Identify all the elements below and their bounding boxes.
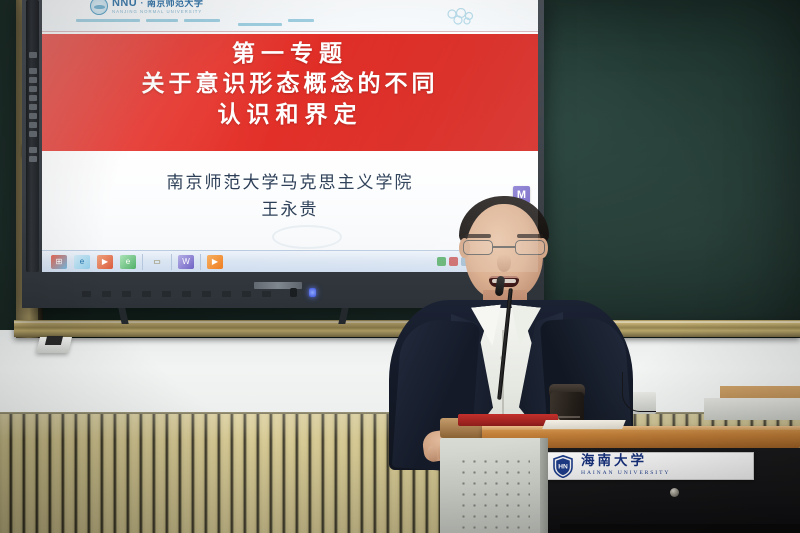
header-divider: [42, 31, 538, 32]
slide-title-banner: 第一专题 关于意识形态概念的不同 认识和界定: [42, 34, 538, 151]
header-deco-bar: [288, 19, 314, 22]
podium-surface-edge: [482, 426, 800, 430]
slide-title-line-2: 关于意识形态概念的不同: [42, 69, 538, 99]
nanjing-normal-university-logo: NNU · 南京师范大学 NANJING NORMAL UNIVERSITY: [90, 0, 203, 15]
glasses-bridge: [493, 246, 515, 248]
display-enter-button[interactable]: [29, 122, 37, 128]
logo-abbr-and-name: NNU · 南京师范大学: [112, 0, 203, 9]
speaker-grille-perforations: [458, 456, 530, 533]
header-deco-bar: [76, 19, 140, 22]
hainan-university-shield-icon: HN: [553, 455, 573, 478]
podium-paper-sheet: [542, 420, 626, 429]
folder-icon[interactable]: ▭: [149, 255, 165, 269]
display-down-button[interactable]: [29, 95, 37, 101]
display-volume-down-button[interactable]: [29, 113, 37, 119]
start-button[interactable]: ⊞: [51, 255, 67, 269]
display-exit-button[interactable]: [29, 131, 37, 137]
eyebrow-right: [517, 234, 543, 238]
display-menu-button[interactable]: [29, 68, 37, 74]
lens-right: [515, 240, 545, 255]
media-player-icon[interactable]: ▶: [97, 255, 113, 269]
podium-university-sign: HN 海南大学 HAINAN UNIVERSITY: [538, 452, 754, 480]
display-freeze-button[interactable]: [29, 156, 37, 162]
display-up-button[interactable]: [29, 86, 37, 92]
eyebrow-left: [465, 234, 491, 238]
speaker-cabinet-edge: [540, 438, 548, 533]
display-side-button-strip[interactable]: [26, 0, 39, 272]
lectern-podium: HN 海南大学 HAINAN UNIVERSITY: [440, 404, 800, 533]
display-aux-button[interactable]: [29, 147, 37, 153]
podium-lock-knob[interactable]: [670, 488, 679, 497]
display-ir-receiver: [290, 288, 297, 297]
slide-watermark-ornament: [272, 225, 342, 249]
whiteboard-app-icon[interactable]: W: [178, 255, 194, 269]
nose: [497, 254, 511, 272]
taskbar-separator: [142, 254, 143, 270]
header-deco-bar: [238, 23, 282, 26]
display-port-row: [82, 291, 282, 297]
internet-explorer-icon[interactable]: e: [74, 255, 90, 269]
university-seal-icon: [90, 0, 108, 15]
browser-icon[interactable]: e: [120, 255, 136, 269]
lecture-hall-photo: NNU · 南京师范大学 NANJING NORMAL UNIVERSITY: [0, 0, 800, 533]
video-player-icon[interactable]: ▶: [207, 255, 223, 269]
display-volume-up-button[interactable]: [29, 104, 37, 110]
logo-english-name: NANJING NORMAL UNIVERSITY: [112, 10, 203, 14]
svg-text:HN: HN: [558, 463, 568, 470]
floor-shadow: [560, 524, 800, 533]
header-deco-bar: [146, 19, 178, 22]
cloud-ornament-icon: [440, 8, 482, 26]
taskbar-separator: [171, 254, 172, 270]
header-deco-bar: [184, 19, 220, 22]
light-fixture-shade: [45, 336, 63, 345]
podium-sign-chinese: 海南大学: [581, 455, 670, 469]
slide-title-line-3: 认识和界定: [42, 100, 538, 130]
taskbar-separator: [200, 254, 201, 270]
lens-left: [463, 240, 493, 255]
taskbar-quick-launch[interactable]: ⊞ e ▶ e ▭ W ▶: [42, 254, 226, 270]
slide-header: NNU · 南京师范大学 NANJING NORMAL UNIVERSITY: [42, 0, 538, 32]
slide-title-line-1: 第一专题: [42, 39, 538, 69]
display-power-led: [309, 288, 316, 297]
display-power-button[interactable]: [29, 52, 37, 58]
display-source-button[interactable]: [29, 77, 37, 83]
podium-sign-english: HAINAN UNIVERSITY: [581, 471, 670, 477]
